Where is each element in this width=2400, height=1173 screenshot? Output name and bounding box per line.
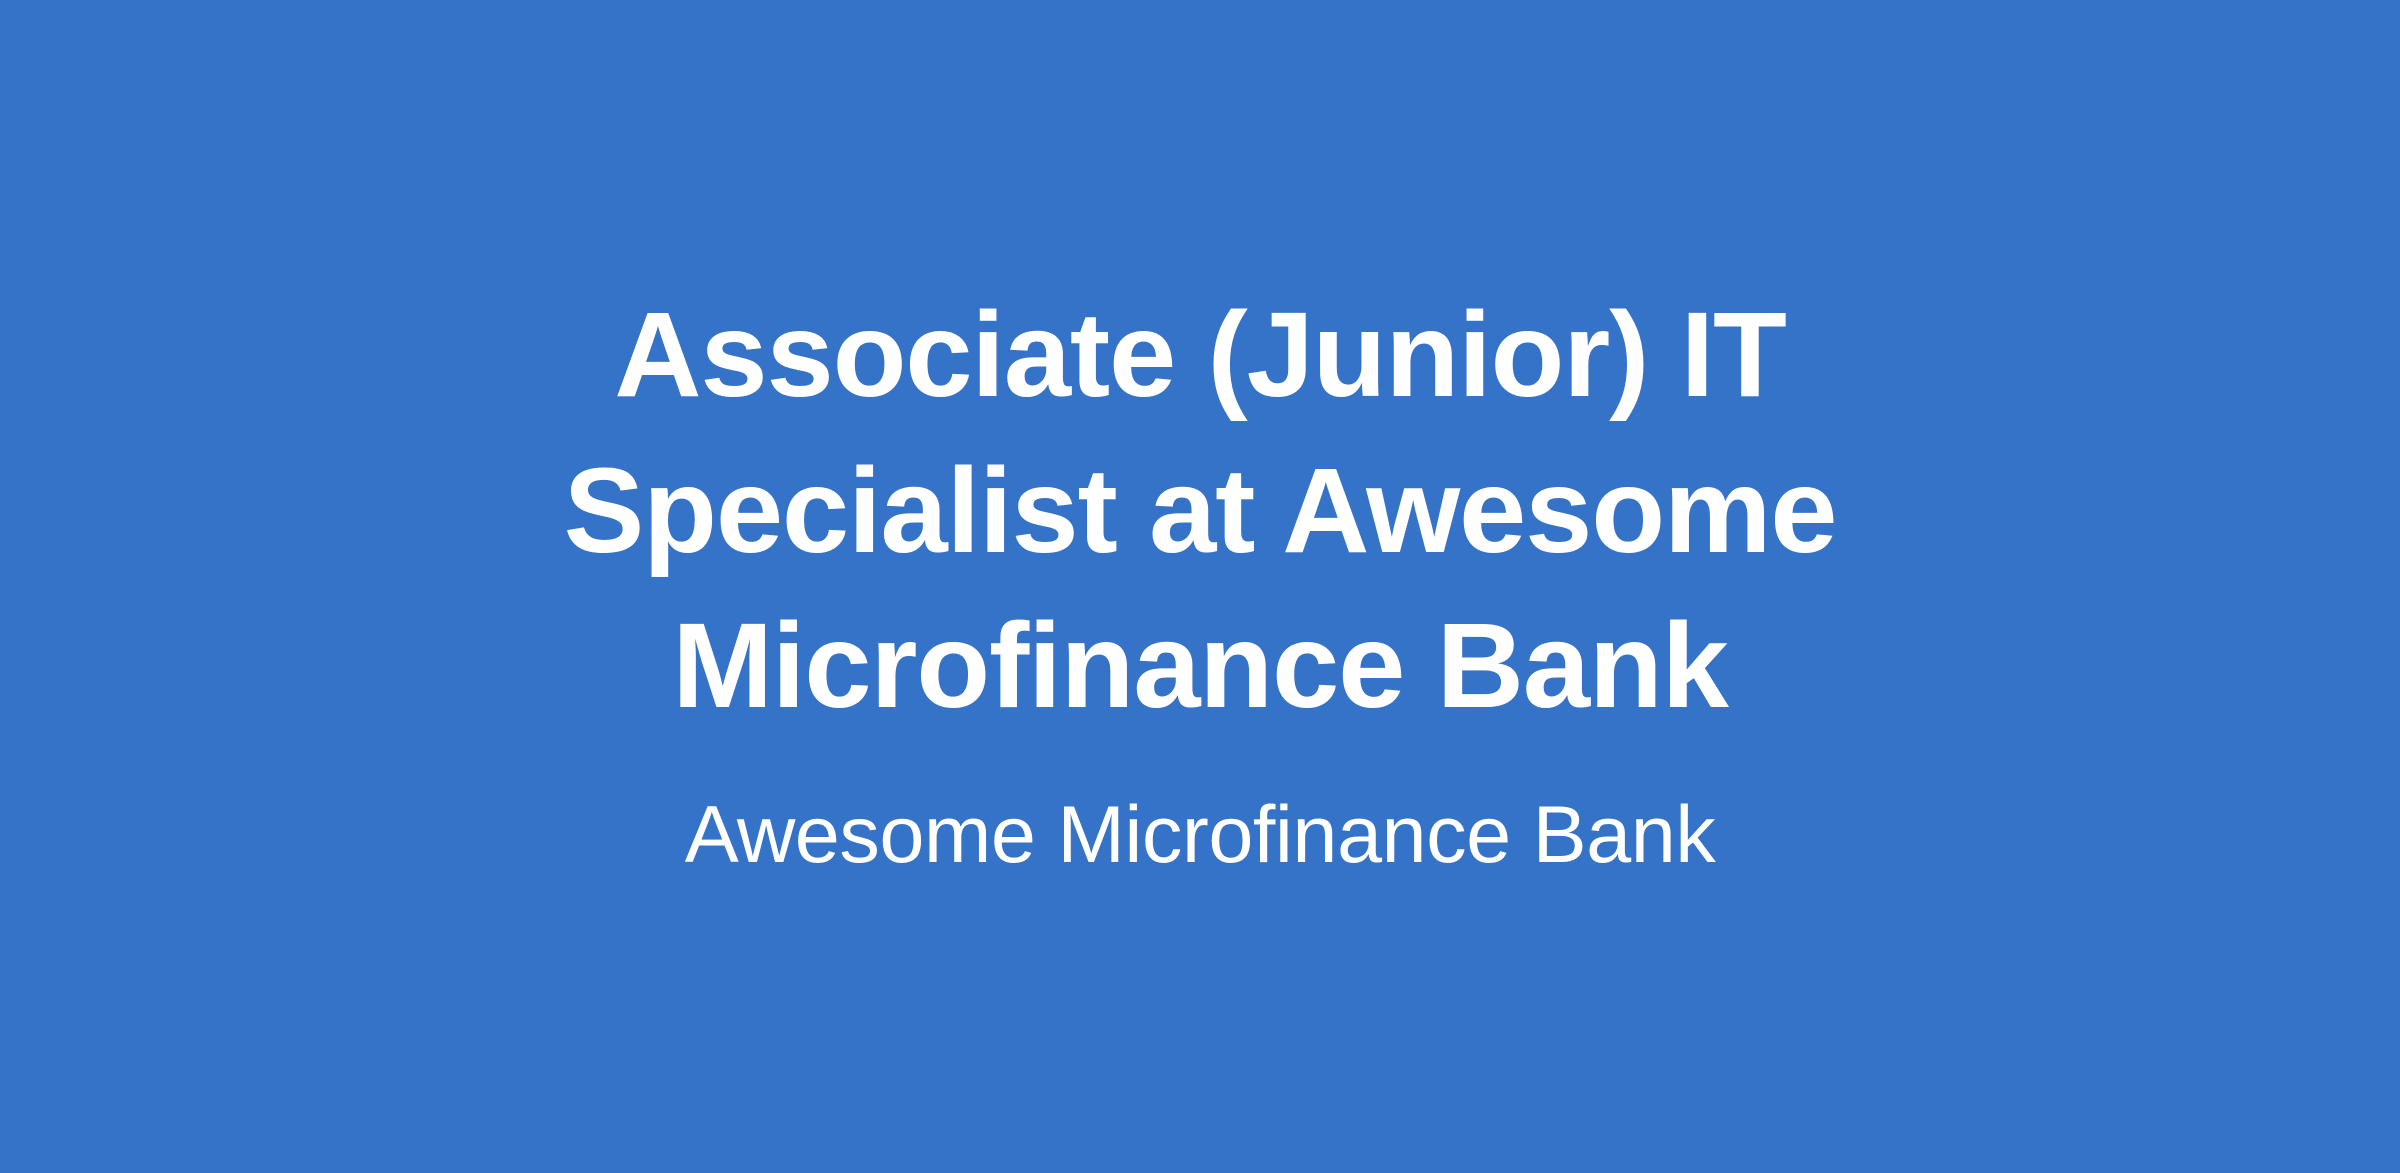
job-posting-card: Associate (Junior) IT Specialist at Awes… xyxy=(0,0,2400,1173)
company-name: Awesome Microfinance Bank xyxy=(340,788,2060,884)
card-content: Associate (Junior) IT Specialist at Awes… xyxy=(340,277,2060,883)
page-title: Associate (Junior) IT Specialist at Awes… xyxy=(340,277,2060,743)
